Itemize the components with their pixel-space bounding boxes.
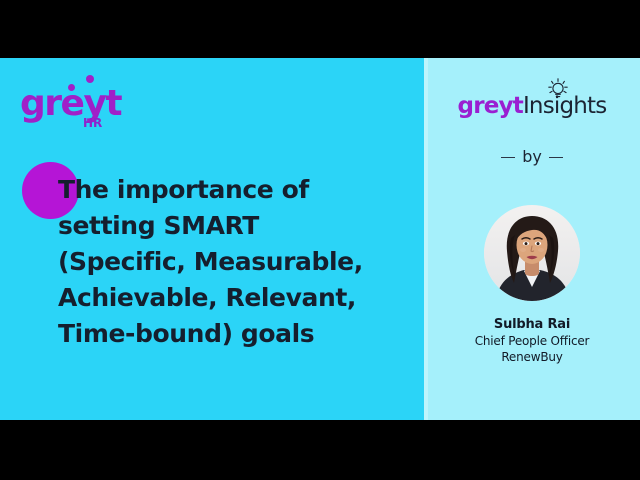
speaker-avatar	[484, 205, 580, 301]
by-divider-row: by	[424, 148, 640, 166]
greyt-insights-wordmark: greytInsights	[458, 92, 607, 120]
logo-dot-icon-large	[86, 75, 94, 83]
greyt-insights-lockup: greytInsights	[424, 92, 640, 120]
speaker-headshot-illustration	[484, 205, 580, 301]
left-panel: greyt HR The importance of setting SMART…	[0, 58, 424, 420]
speaker-company: RenewBuy	[424, 349, 640, 365]
slide-content: greyt HR The importance of setting SMART…	[0, 58, 640, 420]
speaker-credit: Sulbha Rai Chief People Officer RenewBuy	[424, 316, 640, 365]
lightbulb-icon	[546, 78, 570, 100]
speaker-role: Chief People Officer	[424, 333, 640, 349]
greythr-logo-wordmark: greyt	[20, 86, 140, 122]
letterbox-top	[0, 0, 640, 58]
greythr-logo-sublabel: HR	[83, 116, 102, 130]
video-frame: greyt HR The importance of setting SMART…	[0, 0, 640, 480]
letterbox-bottom	[0, 420, 640, 480]
slide-headline: The importance of setting SMART (Specifi…	[58, 172, 418, 352]
greythr-logo: greyt HR	[20, 86, 140, 140]
logo-dot-icon-small	[68, 84, 75, 91]
by-rule-left	[501, 157, 515, 158]
greyt-insights-prefix: greyt	[458, 93, 523, 119]
by-label: by	[522, 148, 542, 166]
speaker-name: Sulbha Rai	[424, 316, 640, 333]
right-panel: greytInsights	[424, 58, 640, 420]
by-rule-right	[549, 157, 563, 158]
